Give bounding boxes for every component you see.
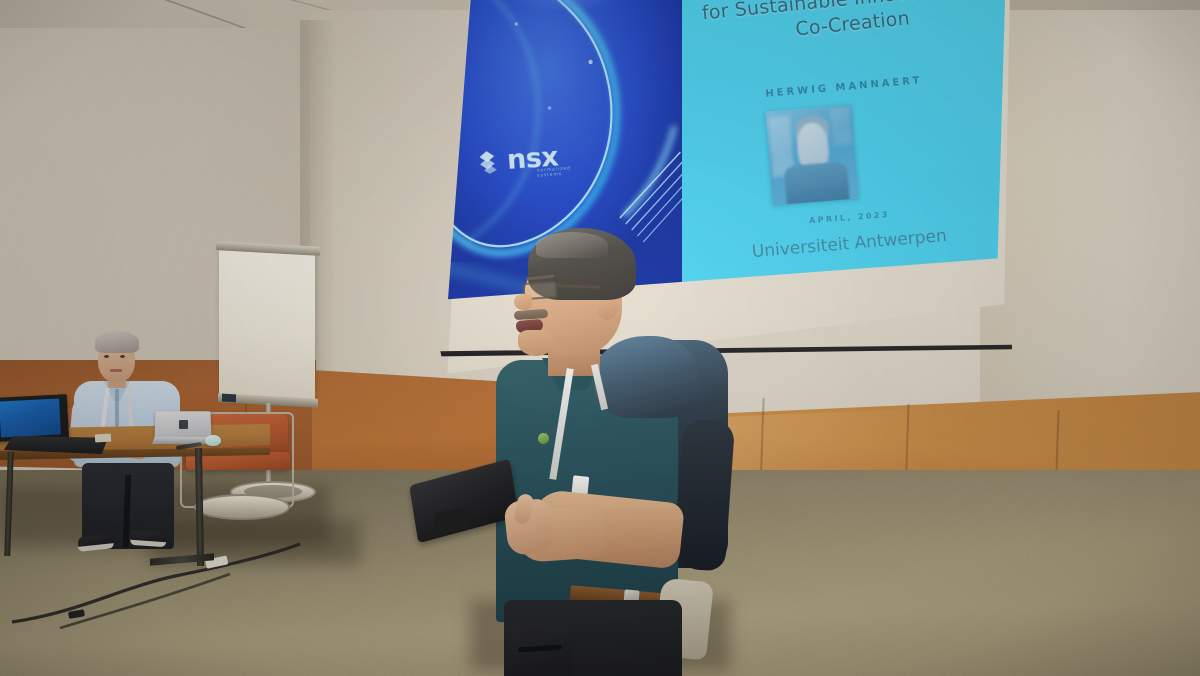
laptop-keyboard-base — [4, 436, 108, 454]
presenter-chin — [518, 330, 554, 356]
seated-hair — [95, 331, 139, 353]
seated-eye — [104, 355, 109, 358]
sweater-hood — [594, 336, 698, 418]
standing-presenter — [470, 228, 750, 676]
seated-eye — [120, 355, 125, 358]
sweater-sleeve — [673, 418, 735, 571]
laptop-logo — [179, 420, 188, 429]
flipchart-paper — [219, 245, 315, 402]
presenter-hair-highlight — [536, 232, 608, 258]
presentation-photo: nsx normalized systems Leveraging Metapr… — [0, 0, 1200, 676]
flipchart-marker — [222, 394, 236, 403]
laptop-display — [0, 398, 61, 437]
presenter-nose — [514, 294, 532, 310]
chair-base — [194, 494, 290, 520]
portrait-torso — [783, 162, 850, 206]
laptop-blue-screen — [0, 396, 112, 458]
shirt-chest-logo — [538, 433, 549, 444]
seated-mouth — [110, 369, 122, 372]
laptop-lid — [155, 411, 212, 439]
nsx-logo: nsx normalized systems — [478, 143, 560, 176]
nsx-diamond-icon — [478, 149, 502, 174]
presenter-portrait-photo — [765, 105, 858, 205]
wireless-mouse — [205, 435, 221, 446]
paper-scrap — [95, 434, 111, 443]
